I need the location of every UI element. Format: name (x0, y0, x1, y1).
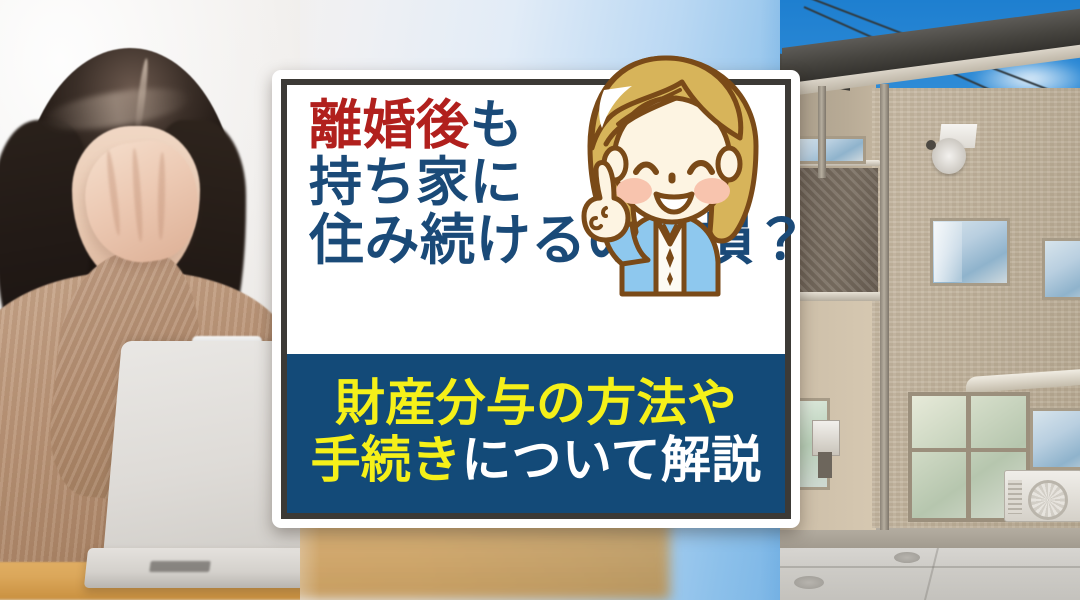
window-balcony (790, 136, 866, 164)
window-second-floor-right (1042, 238, 1080, 300)
subline-line-1: 財産分与の方法や (335, 378, 737, 429)
laptop-lid (102, 341, 300, 566)
satellite-bracket (926, 140, 936, 150)
headline-panel: 離婚後も 持ち家に 住み続けるのは損？ (287, 85, 785, 354)
headline-line-1-rest: も (470, 96, 524, 155)
subline-banner: 財産分与の方法や 手続きについて解説 (287, 354, 785, 513)
meter-conduit (818, 452, 832, 478)
headline-card-inner: 離婚後も 持ち家に 住み続けるのは損？ 財産分与の方法や 手続きについて解説 (281, 79, 791, 519)
laptop-keyboard (149, 561, 211, 572)
drain-cover-1 (794, 576, 824, 589)
subline-highlight: 手続き (311, 432, 462, 488)
subline-line-2-rest: について解説 (461, 432, 761, 488)
window-curtain (934, 222, 962, 282)
door-mullion (966, 392, 971, 522)
window-first-floor-right (1030, 408, 1080, 470)
banner-canvas: 離婚後も 持ち家に 住み続けるのは損？ 財産分与の方法や 手続きについて解説 (0, 0, 1080, 600)
downspout-side (818, 86, 826, 178)
satellite-dish (932, 138, 966, 174)
headline-card: 離婚後も 持ち家に 住み続けるのは損？ 財産分与の方法や 手続きについて解説 (272, 70, 800, 528)
headline-line-2: 持ち家に (309, 156, 785, 211)
drain-cover-2 (894, 552, 920, 563)
subline-line-2: 手続きについて解説 (311, 435, 762, 486)
headline-highlight: 離婚後 (309, 96, 470, 155)
door-rail (908, 448, 1030, 452)
ground-seam-horizontal (780, 566, 1080, 568)
photo-woman-at-laptop (0, 0, 300, 600)
photo-detached-house (780, 0, 1080, 600)
ac-fan (1028, 480, 1068, 520)
electric-meter-box (812, 420, 840, 456)
downspout-main (880, 84, 889, 530)
ac-vent-grille (1008, 480, 1022, 514)
headline-line-3: 住み続けるのは損？ (309, 212, 785, 269)
headline-line-1: 離婚後も (309, 99, 785, 154)
